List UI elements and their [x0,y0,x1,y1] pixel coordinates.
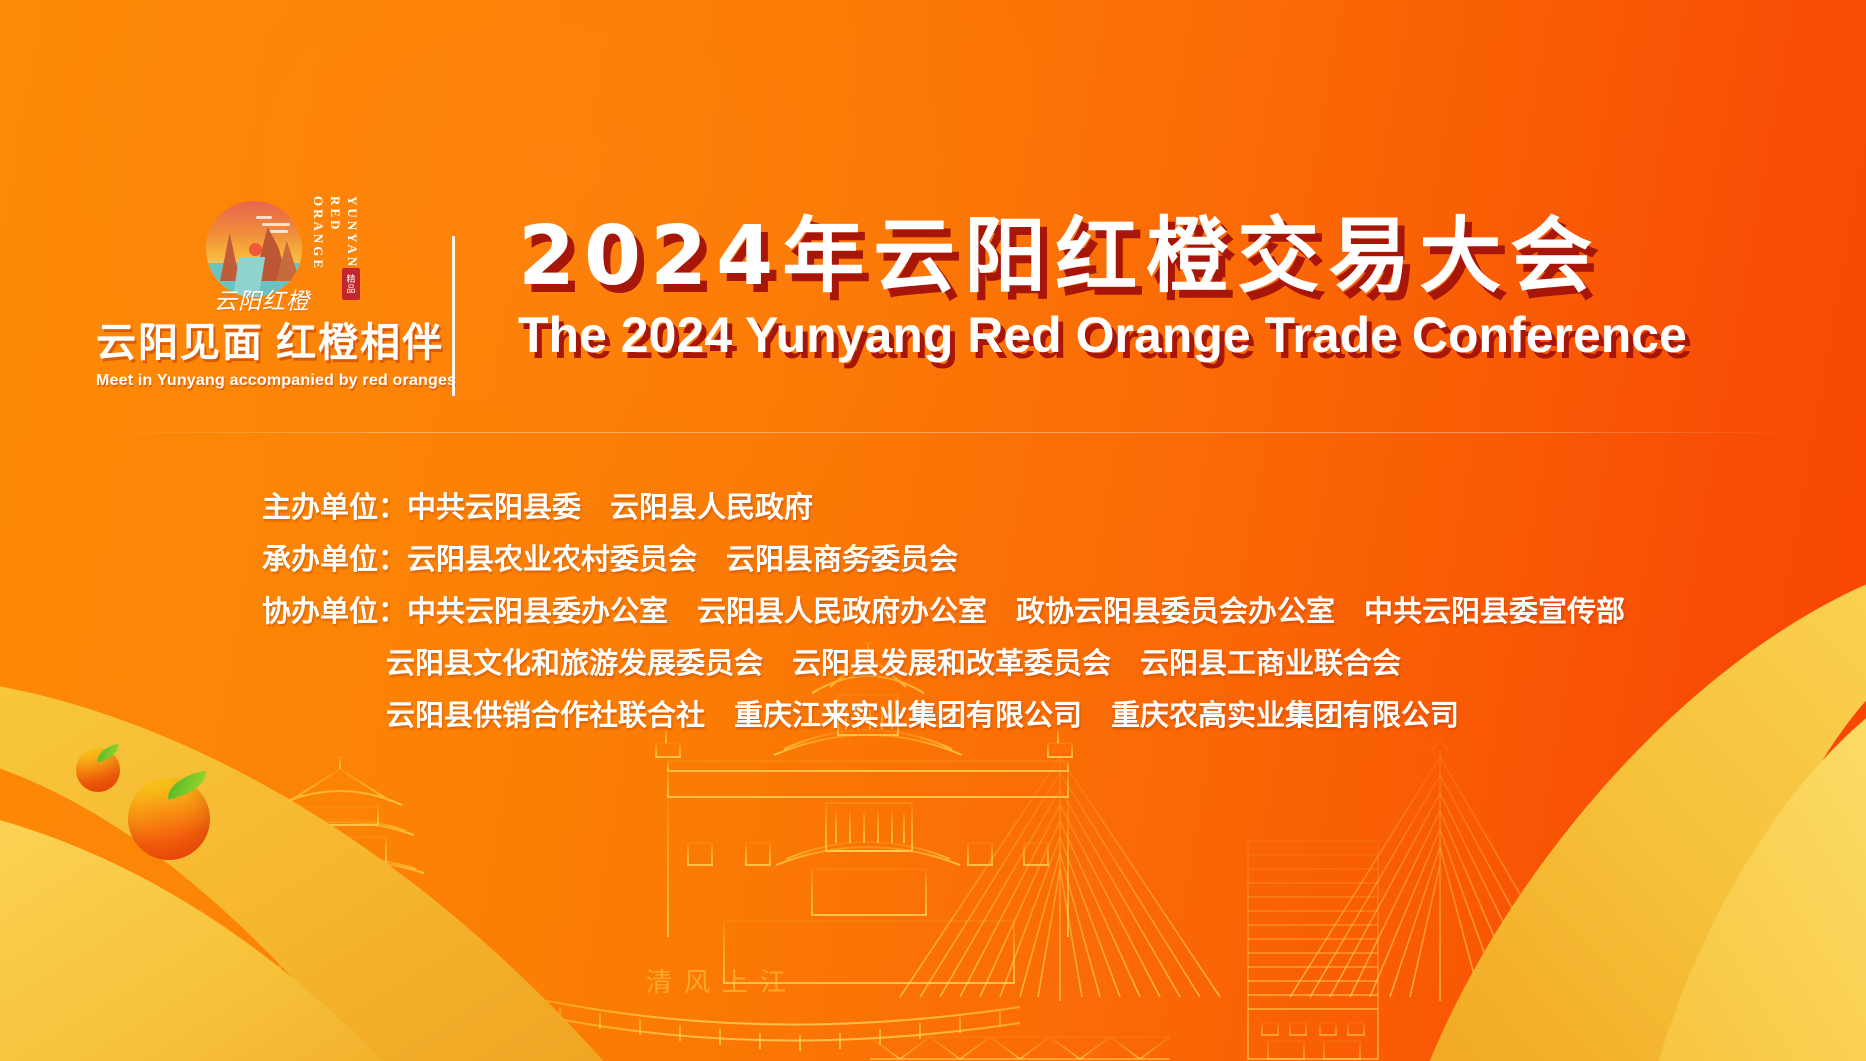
cloud-icon [256,216,272,219]
quality-stamp-badge: 精品 [342,268,360,300]
credit-line: 承办单位：云阳县农业农村委员会 云阳县商务委员会 [262,534,1625,586]
credit-line: 主办单位：中共云阳县委 云阳县人民政府 [262,482,1625,534]
orange-fruit-large [128,778,210,860]
credit-line: 云阳县供销合作社联合社 重庆江来实业集团有限公司 重庆农高实业集团有限公司 [262,690,1625,742]
page-title: 2024年云阳红橙交易大会 [518,212,1687,302]
organizer-credits: 主办单位：中共云阳县委 云阳县人民政府 承办单位：云阳县农业农村委员会 云阳县商… [262,482,1625,742]
credit-line: 云阳县文化和旅游发展委员会 云阳县发展和改革委员会 云阳县工商业联合会 [262,638,1625,690]
orange-fruit-small [76,748,120,792]
brand-cn-name: 云阳红橙 [214,282,344,310]
vertical-divider [452,236,455,396]
credit-line: 协办单位：中共云阳县委办公室 云阳县人民政府办公室 政协云阳县委员会办公室 中共… [262,586,1625,638]
cloud-icon [268,230,288,233]
title-block: 2024年云阳红橙交易大会 The 2024 Yunyang Red Orang… [518,212,1687,364]
brand-lockup: YUNYANG RED ORANGE 精品 云阳红橙 云阳见面 红橙相伴 Mee… [96,196,426,390]
slogan-en: Meet in Yunyang accompanied by red orang… [96,372,426,390]
pavilion-plaque-text: 清风上江 [602,962,842,998]
cloud-icon [262,223,290,226]
poster-canvas: 清风上江 [0,0,1866,1061]
header-hairline [100,432,1800,433]
brand-mark-row: YUNYANG RED ORANGE 精品 云阳红橙 [96,196,426,308]
brand-en-line2: RED ORANGE [311,196,343,271]
slogan-cn: 云阳见面 红橙相伴 [96,310,426,368]
sun-icon [249,243,262,256]
page-subtitle: The 2024 Yunyang Red Orange Trade Confer… [518,306,1687,364]
